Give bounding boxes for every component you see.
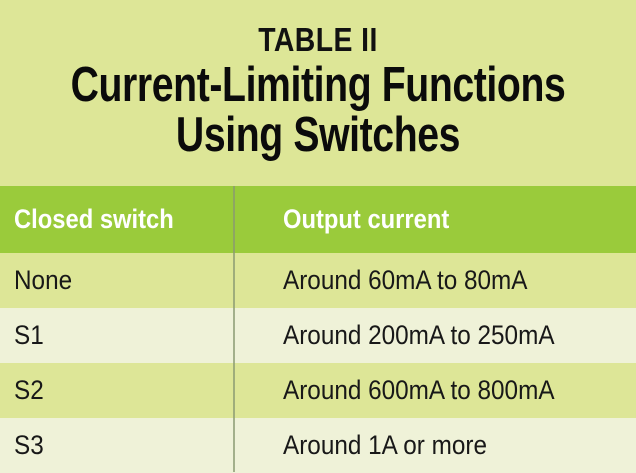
table-cell-current: Around 60mA to 80mA bbox=[234, 253, 636, 308]
data-table: Closed switch Output current None Around… bbox=[0, 186, 636, 472]
table-cell-switch: S3 bbox=[0, 418, 234, 473]
table-card: TABLE II Current-Limiting Functions Usin… bbox=[0, 0, 636, 472]
cell-value-switch: None bbox=[14, 267, 72, 294]
page-title: Current-Limiting Functions Using Switche… bbox=[0, 60, 636, 160]
table-row: None Around 60mA to 80mA bbox=[0, 253, 636, 308]
table-cell-current: Around 200mA to 250mA bbox=[234, 308, 636, 363]
column-header-closed-switch: Closed switch bbox=[14, 206, 174, 233]
table-row: S2 Around 600mA to 800mA bbox=[0, 363, 636, 418]
cell-value-current: Around 600mA to 800mA bbox=[283, 377, 555, 404]
table-row: S3 Around 1A or more bbox=[0, 418, 636, 473]
table-cell-current: Around 600mA to 800mA bbox=[234, 363, 636, 418]
column-header-output-current: Output current bbox=[283, 206, 449, 233]
table-header-cell-current: Output current bbox=[234, 186, 636, 253]
cell-value-current: Around 60mA to 80mA bbox=[283, 267, 528, 294]
cell-value-switch: S3 bbox=[14, 432, 44, 459]
table-header-row: Closed switch Output current bbox=[0, 186, 636, 253]
cell-value-switch: S1 bbox=[14, 322, 44, 349]
page-title-line-2: Using Switches bbox=[64, 110, 573, 160]
table-cell-current: Around 1A or more bbox=[234, 418, 636, 473]
cell-value-switch: S2 bbox=[14, 377, 44, 404]
table-title-block: TABLE II Current-Limiting Functions Usin… bbox=[0, 0, 636, 186]
table-number-label: TABLE II bbox=[45, 22, 592, 58]
page-title-line-1: Current-Limiting Functions bbox=[64, 60, 573, 110]
cell-value-current: Around 1A or more bbox=[283, 432, 487, 459]
table-row: S1 Around 200mA to 250mA bbox=[0, 308, 636, 363]
table-header-cell-switch: Closed switch bbox=[0, 186, 234, 253]
table-cell-switch: S1 bbox=[0, 308, 234, 363]
table-cell-switch: S2 bbox=[0, 363, 234, 418]
table-cell-switch: None bbox=[0, 253, 234, 308]
cell-value-current: Around 200mA to 250mA bbox=[283, 322, 555, 349]
